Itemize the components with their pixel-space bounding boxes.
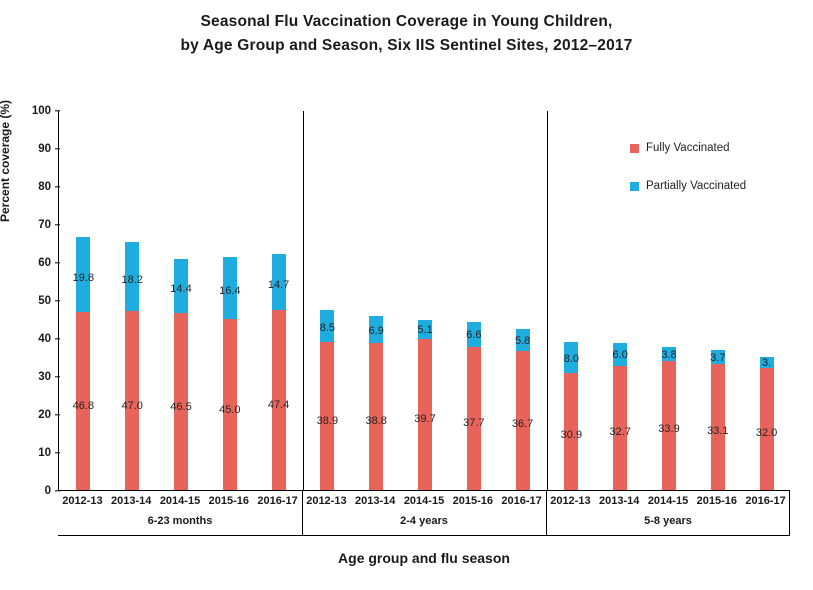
x-axis-season-label: 2016-17 <box>745 495 785 507</box>
x-axis-season-label: 2014-15 <box>404 495 444 507</box>
legend-item-partially-vaccinated[interactable]: Partially Vaccinated <box>630 180 746 192</box>
x-axis-season-label: 2012-13 <box>62 495 102 507</box>
y-axis-tick-0: 0 <box>45 485 59 497</box>
bar-5-8-years-2013-14[interactable] <box>613 343 627 490</box>
bar-6-23-months-2015-16[interactable] <box>223 257 237 490</box>
bar-5-8-years-2015-16[interactable] <box>711 350 725 490</box>
legend-swatch-icon <box>630 144 639 153</box>
group-separator-plot <box>547 111 548 490</box>
chart-page: Seasonal Flu Vaccination Coverage in You… <box>0 0 813 590</box>
x-axis-season-label: 2014-15 <box>648 495 688 507</box>
bar-5-8-years-2012-13[interactable] <box>564 342 578 490</box>
x-axis-season-label: 2015-16 <box>453 495 493 507</box>
x-axis-season-label: 2012-13 <box>306 495 346 507</box>
group-separator-band <box>302 491 303 535</box>
bar-6-23-months-2016-17[interactable] <box>272 254 286 490</box>
y-axis-tick-30: 30 <box>38 371 59 383</box>
bar-2-4-years-2015-16[interactable] <box>467 322 481 490</box>
y-axis-tick-10: 10 <box>38 447 59 459</box>
bar-segment-partially-vaccinated[interactable] <box>76 237 90 312</box>
bar-segment-partially-vaccinated[interactable] <box>516 329 530 351</box>
y-axis-tick-20: 20 <box>38 409 59 421</box>
bar-segment-partially-vaccinated[interactable] <box>174 259 188 314</box>
bar-segment-partially-vaccinated[interactable] <box>125 242 139 311</box>
bar-segment-fully-vaccinated[interactable] <box>662 361 676 490</box>
y-axis-tick-80: 80 <box>38 181 59 193</box>
x-axis-group-label: 5-8 years <box>644 515 692 527</box>
x-axis-season-label: 2015-16 <box>697 495 737 507</box>
y-axis-tick-90: 90 <box>38 143 59 155</box>
bar-segment-partially-vaccinated[interactable] <box>662 347 676 361</box>
y-axis-tick-100: 100 <box>32 105 59 117</box>
x-axis-season-label: 2016-17 <box>257 495 297 507</box>
bar-segment-partially-vaccinated[interactable] <box>272 254 286 310</box>
x-axis-season-label: 2013-14 <box>355 495 395 507</box>
x-axis-group-label: 6-23 months <box>148 515 213 527</box>
bar-segment-fully-vaccinated[interactable] <box>125 311 139 490</box>
legend-swatch-icon <box>630 182 639 191</box>
bar-6-23-months-2013-14[interactable] <box>125 242 139 490</box>
bar-5-8-years-2016-17[interactable] <box>760 357 774 490</box>
bar-5-8-years-2014-15[interactable] <box>662 347 676 490</box>
bar-segment-fully-vaccinated[interactable] <box>369 343 383 490</box>
bar-segment-partially-vaccinated[interactable] <box>613 343 627 366</box>
page-title: Seasonal Flu Vaccination Coverage in You… <box>0 10 813 58</box>
x-axis-season-label: 2015-16 <box>209 495 249 507</box>
bar-segment-partially-vaccinated[interactable] <box>711 350 725 364</box>
bar-2-4-years-2013-14[interactable] <box>369 316 383 490</box>
bar-segment-fully-vaccinated[interactable] <box>272 310 286 490</box>
x-axis-season-label: 2014-15 <box>160 495 200 507</box>
bar-segment-fully-vaccinated[interactable] <box>564 373 578 490</box>
x-axis-group-label: 2-4 years <box>400 515 448 527</box>
group-separator-plot <box>303 111 304 490</box>
bar-segment-fully-vaccinated[interactable] <box>223 319 237 490</box>
bar-segment-partially-vaccinated[interactable] <box>467 322 481 347</box>
y-axis-tick-40: 40 <box>38 333 59 345</box>
legend-label: Fully Vaccinated <box>646 142 730 154</box>
group-separator-band <box>546 491 547 535</box>
x-axis-title: Age group and flu season <box>58 550 790 566</box>
bar-segment-fully-vaccinated[interactable] <box>711 364 725 490</box>
legend-label: Partially Vaccinated <box>646 180 746 192</box>
bar-segment-partially-vaccinated[interactable] <box>564 342 578 372</box>
bar-segment-fully-vaccinated[interactable] <box>320 342 334 490</box>
bar-segment-partially-vaccinated[interactable] <box>760 357 774 369</box>
bar-segment-partially-vaccinated[interactable] <box>223 257 237 319</box>
bar-segment-fully-vaccinated[interactable] <box>418 339 432 490</box>
bar-segment-partially-vaccinated[interactable] <box>320 310 334 342</box>
bar-2-4-years-2012-13[interactable] <box>320 310 334 490</box>
legend-item-fully-vaccinated[interactable]: Fully Vaccinated <box>630 142 746 154</box>
category-label-band: 2012-132013-142014-152015-162016-176-23 … <box>58 491 790 536</box>
bar-segment-fully-vaccinated[interactable] <box>467 347 481 490</box>
bar-6-23-months-2012-13[interactable] <box>76 237 90 490</box>
bar-6-23-months-2014-15[interactable] <box>174 259 188 490</box>
y-axis-tick-70: 70 <box>38 219 59 231</box>
bar-segment-partially-vaccinated[interactable] <box>369 316 383 342</box>
bar-2-4-years-2016-17[interactable] <box>516 329 530 491</box>
x-axis-season-label: 2013-14 <box>599 495 639 507</box>
x-axis-season-label: 2013-14 <box>111 495 151 507</box>
y-axis-tick-50: 50 <box>38 295 59 307</box>
bar-2-4-years-2014-15[interactable] <box>418 320 432 490</box>
bar-segment-partially-vaccinated[interactable] <box>418 320 432 339</box>
x-axis-season-label: 2016-17 <box>501 495 541 507</box>
bar-segment-fully-vaccinated[interactable] <box>760 368 774 490</box>
x-axis-season-label: 2012-13 <box>550 495 590 507</box>
y-axis-title: Percent coverage (%) <box>0 100 12 222</box>
title-line-1: Seasonal Flu Vaccination Coverage in You… <box>0 10 813 34</box>
title-line-2: by Age Group and Season, Six IIS Sentine… <box>0 34 813 58</box>
legend: Fully VaccinatedPartially Vaccinated <box>630 142 746 218</box>
bar-segment-fully-vaccinated[interactable] <box>516 351 530 490</box>
bar-segment-fully-vaccinated[interactable] <box>174 313 188 490</box>
y-axis-tick-60: 60 <box>38 257 59 269</box>
bar-segment-fully-vaccinated[interactable] <box>76 312 90 490</box>
bar-segment-fully-vaccinated[interactable] <box>613 366 627 490</box>
